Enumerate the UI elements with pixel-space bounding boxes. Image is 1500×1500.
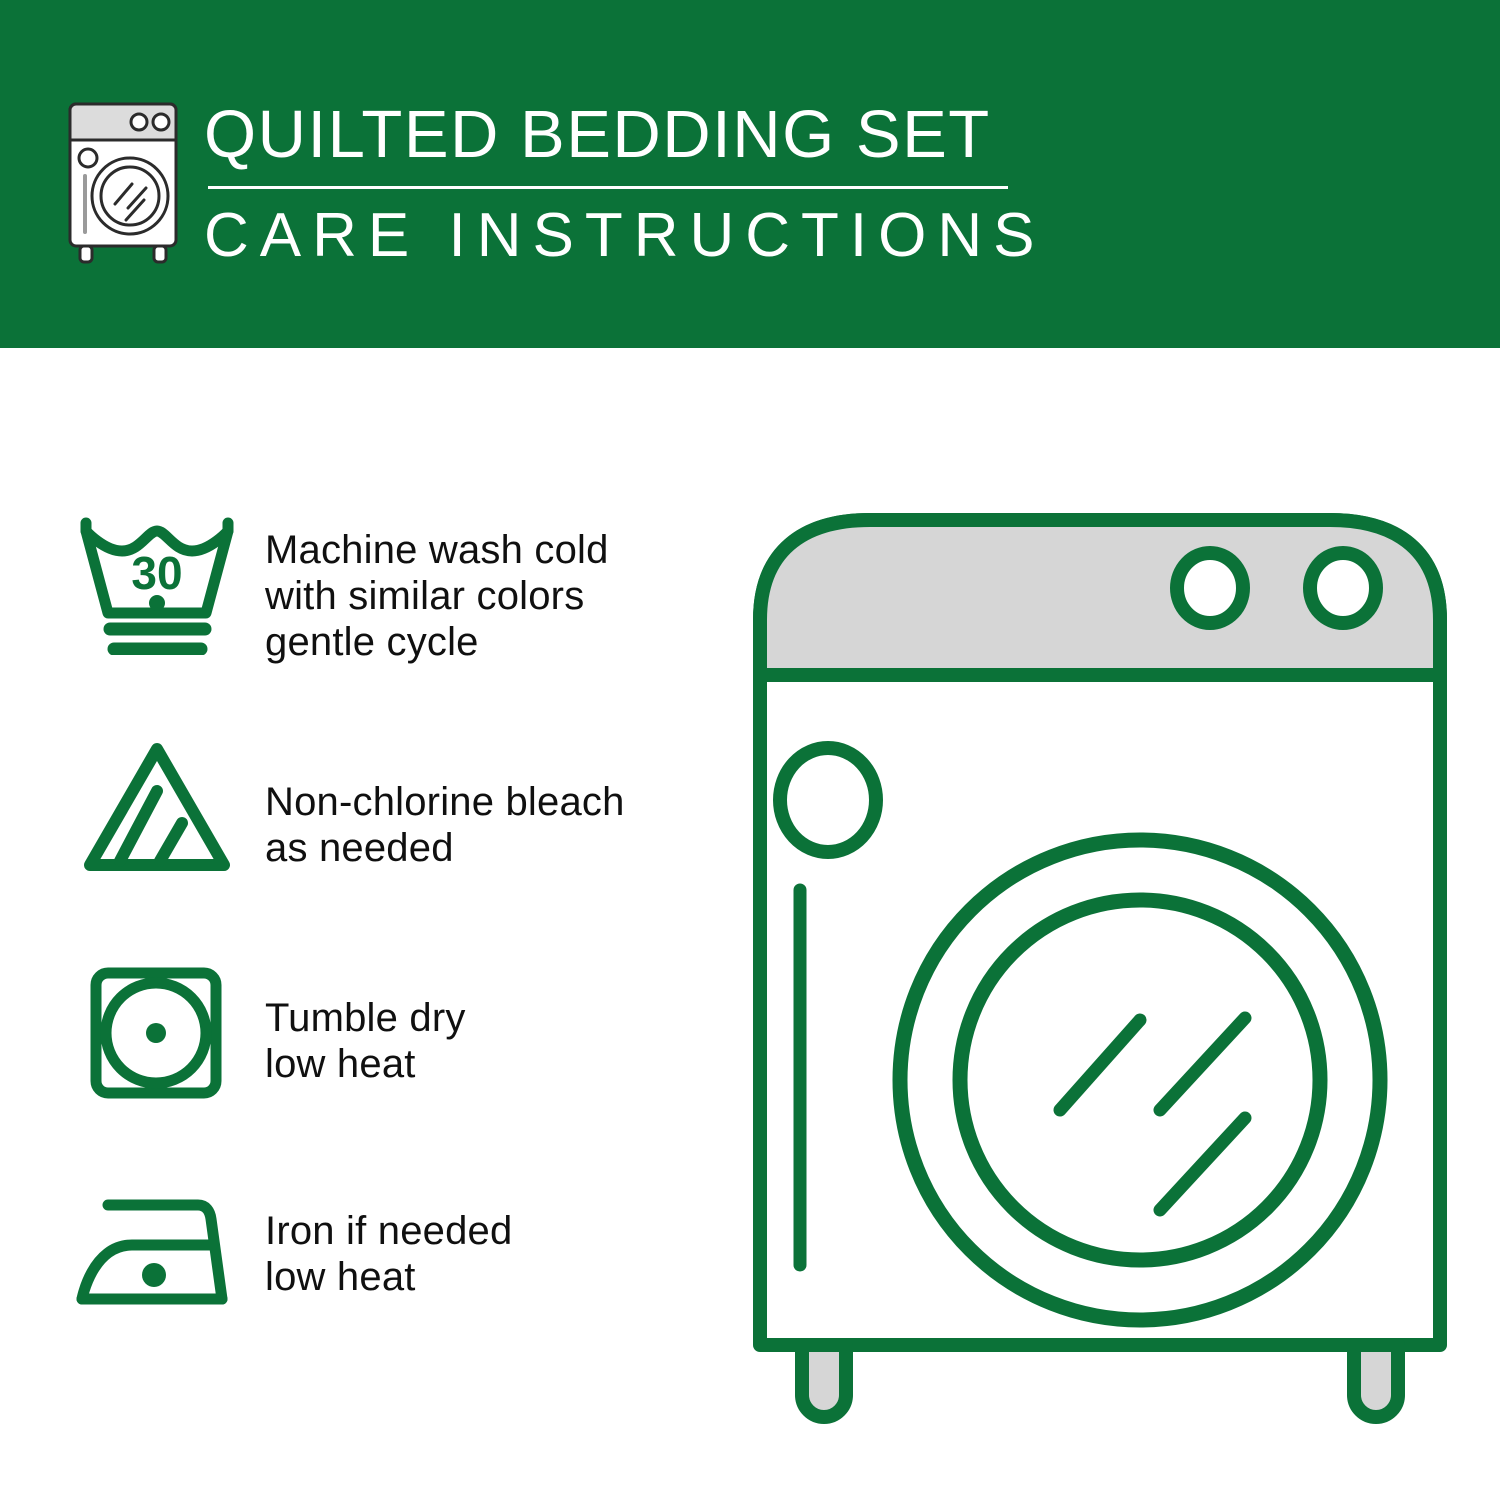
care-instruction-list: 30 Machine wash cold with similar colors…: [70, 505, 710, 1409]
iron-icon: [70, 1183, 245, 1333]
machine-leg: [1354, 1345, 1398, 1417]
care-line: Iron if needed: [265, 1208, 512, 1254]
care-row-machine-wash: 30 Machine wash cold with similar colors…: [70, 505, 710, 731]
door-inner-ring: [960, 900, 1320, 1260]
wash-temperature-label: 30: [131, 547, 182, 599]
care-text-bleach: Non-chlorine bleach as needed: [245, 731, 625, 871]
care-row-iron: Iron if needed low heat: [70, 1183, 710, 1409]
care-row-bleach: Non-chlorine bleach as needed: [70, 731, 710, 957]
care-line: with similar colors: [265, 573, 609, 619]
title-divider: [208, 186, 1008, 189]
control-knob: [1310, 553, 1376, 623]
care-line: gentle cycle: [265, 619, 609, 665]
detergent-dispenser: [780, 748, 876, 852]
wash-tub-icon: 30: [70, 505, 245, 655]
care-instructions-infographic: QUILTED BEDDING SET CARE INSTRUCTIONS: [0, 0, 1500, 1500]
washing-machine-icon: [60, 96, 186, 264]
care-text-tumble-dry: Tumble dry low heat: [245, 957, 466, 1087]
bleach-triangle-icon: [70, 731, 245, 881]
header-title-group: QUILTED BEDDING SET CARE INSTRUCTIONS: [204, 96, 1045, 269]
care-text-machine-wash: Machine wash cold with similar colors ge…: [245, 505, 609, 665]
care-line: low heat: [265, 1041, 466, 1087]
care-line: Tumble dry: [265, 995, 466, 1041]
care-line: low heat: [265, 1254, 512, 1300]
care-line: Machine wash cold: [265, 527, 609, 573]
page-title: QUILTED BEDDING SET: [204, 100, 1045, 170]
care-line: as needed: [265, 825, 625, 871]
tumble-dry-icon: [70, 957, 245, 1107]
page-subtitle: CARE INSTRUCTIONS: [204, 203, 1045, 269]
header-banner: QUILTED BEDDING SET CARE INSTRUCTIONS: [0, 0, 1500, 348]
machine-leg: [802, 1345, 846, 1417]
care-line: Non-chlorine bleach: [265, 779, 625, 825]
header-content: QUILTED BEDDING SET CARE INSTRUCTIONS: [60, 96, 1045, 269]
care-text-iron: Iron if needed low heat: [245, 1183, 512, 1300]
control-knob: [1177, 553, 1243, 623]
washing-machine-illustration: [740, 500, 1460, 1430]
care-row-tumble-dry: Tumble dry low heat: [70, 957, 710, 1183]
